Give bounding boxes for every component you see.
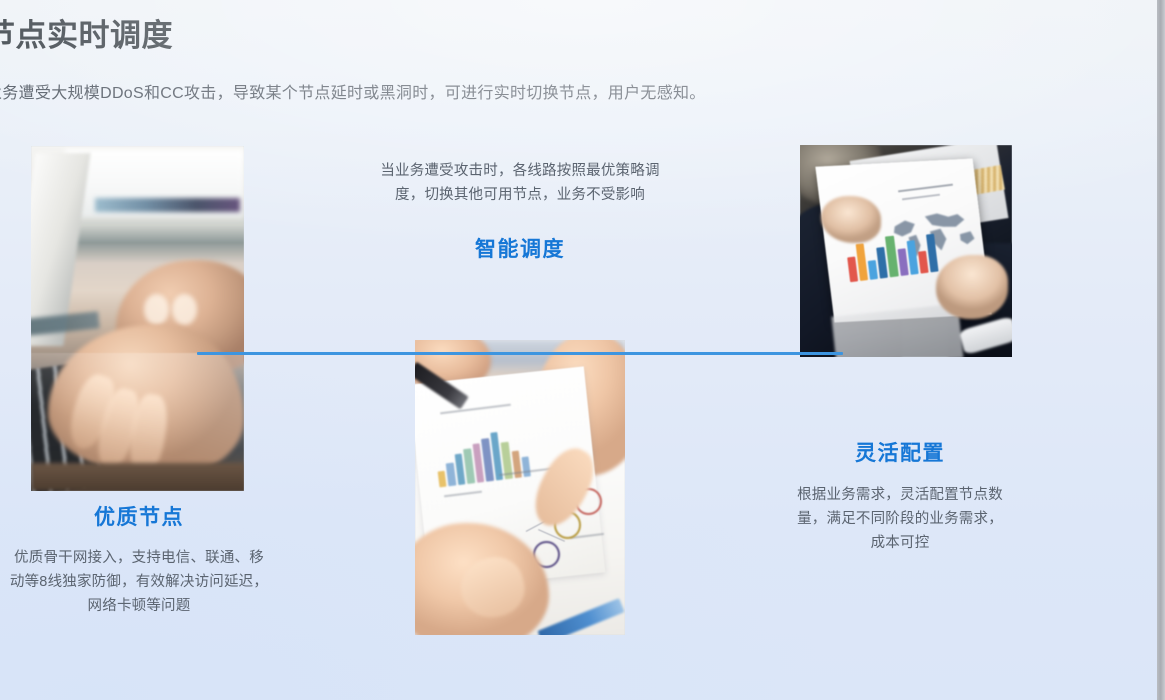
connector-line	[197, 352, 843, 355]
vertical-scrollbar[interactable]	[1157, 0, 1165, 700]
feature-right-heading: 灵活配置	[795, 437, 1005, 467]
feature-left-heading: 优质节点	[8, 501, 270, 531]
feature-left-body: 优质骨干网接入，支持电信、联通、移动等8线独家防御，有效解决访问延迟，网络卡顿等…	[8, 546, 270, 618]
feature-right-body: 根据业务需求，灵活配置节点数量，满足不同阶段的业务需求，成本可控	[795, 483, 1005, 555]
feature-center-body: 当业务遭受攻击时，各线路按照最优策略调度，切换其他可用节点，业务不受影响	[377, 159, 663, 207]
hand-left	[821, 196, 880, 243]
photo-business-report	[800, 145, 1012, 357]
photo-documents-review	[415, 340, 625, 635]
laptop-screen-content	[95, 198, 240, 212]
paper-bar-chart	[433, 423, 531, 487]
desk-surface	[31, 463, 244, 491]
hand-right	[936, 255, 1008, 319]
feature-center-heading: 智能调度	[377, 233, 663, 263]
page-subtitle: 业务遭受大规模DDoS和CC攻击，导致某个节点延时或黑洞时，可进行实时切换节点，…	[0, 82, 1086, 106]
photo-laptop-typing	[31, 146, 244, 491]
feature-block-quality-nodes: 优质节点 优质骨干网接入，支持电信、联通、移动等8线独家防御，有效解决访问延迟，…	[8, 501, 270, 618]
feature-block-intelligent-scheduling: 当业务遭受攻击时，各线路按照最优策略调度，切换其他可用节点，业务不受影响 智能调…	[377, 159, 663, 263]
feature-block-flexible-config: 灵活配置 根据业务需求，灵活配置节点数量，满足不同阶段的业务需求，成本可控	[795, 437, 1005, 555]
page-title: 节点实时调度	[0, 14, 744, 58]
slide-canvas: 节点实时调度 业务遭受大规模DDoS和CC攻击，导致某个节点延时或黑洞时，可进行…	[0, 0, 1165, 700]
